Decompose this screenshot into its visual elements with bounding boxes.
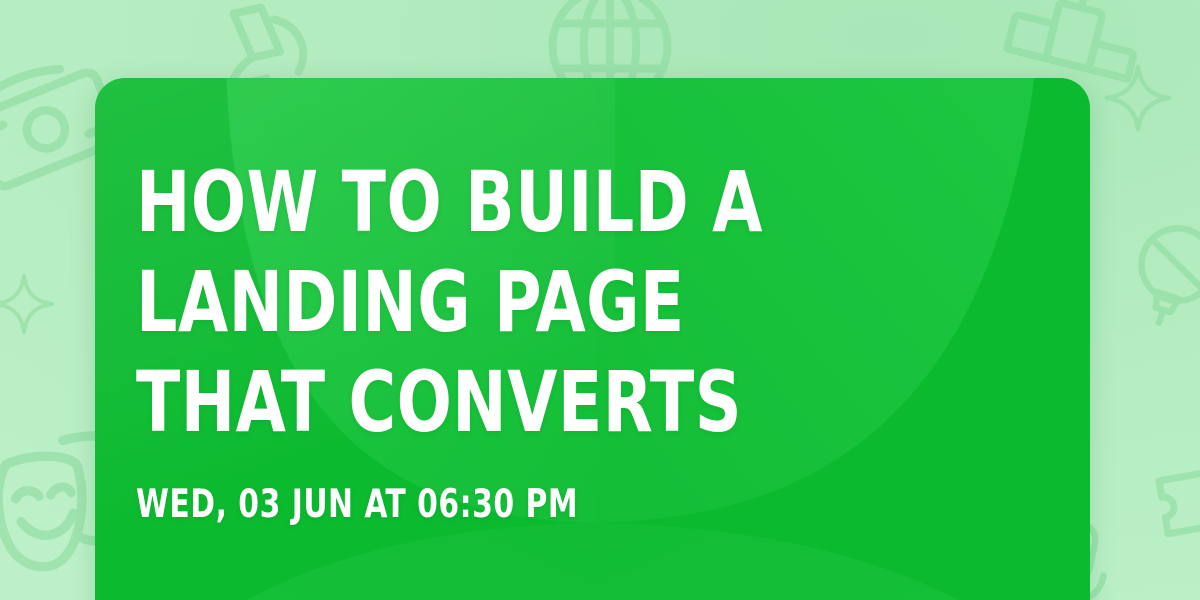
event-card[interactable]: How to build a landing page that convert… xyxy=(95,78,1090,600)
sparkle-icon xyxy=(1098,58,1178,138)
event-card-content: How to build a landing page that convert… xyxy=(136,152,1050,526)
ticket-icon xyxy=(1140,420,1200,573)
event-datetime: Wed, 03 Jun at 06:30 PM xyxy=(136,452,913,526)
event-banner: How to build a landing page that convert… xyxy=(0,0,1200,600)
balloon-icon xyxy=(1102,196,1200,350)
event-title: How to build a landing page that convert… xyxy=(136,152,922,452)
sparkle-icon xyxy=(0,268,60,340)
